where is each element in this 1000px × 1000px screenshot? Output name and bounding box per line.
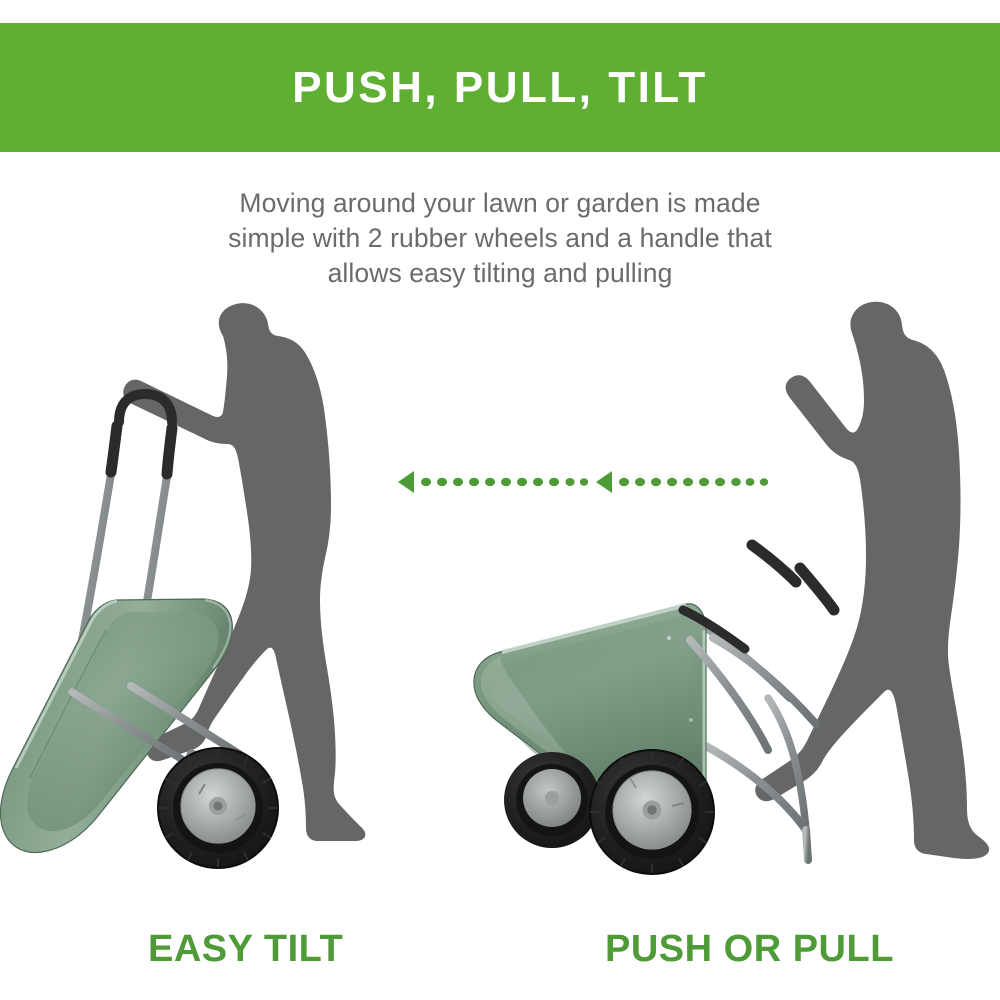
left-illustration-group [0, 303, 365, 868]
caption-push-or-pull: PUSH OR PULL [605, 928, 894, 971]
arrow-dots-1 [421, 478, 588, 486]
subtitle-line-1: Moving around your lawn or garden is mad… [0, 186, 1000, 221]
illustration-scene [0, 300, 1000, 900]
direction-arrows [398, 471, 768, 493]
arrow-head-2 [596, 471, 612, 493]
subtitle-line-2: simple with 2 rubber wheels and a handle… [0, 221, 1000, 256]
arrow-dots-2 [619, 478, 768, 486]
caption-easy-tilt: EASY TILT [148, 928, 343, 971]
arrow-head-1 [398, 471, 414, 493]
wheel-right-front [590, 750, 714, 874]
page-title: PUSH, PULL, TILT [292, 66, 708, 110]
header-banner: PUSH, PULL, TILT [0, 23, 1000, 152]
subtitle-text: Moving around your lawn or garden is mad… [0, 186, 1000, 291]
wheel-right-rear [504, 752, 600, 848]
right-illustration-group [474, 302, 989, 874]
subtitle-line-3: allows easy tilting and pulling [0, 256, 1000, 291]
product-feature-graphic: PUSH, PULL, TILT Moving around your lawn… [0, 0, 1000, 1000]
wheel-left [158, 748, 278, 868]
